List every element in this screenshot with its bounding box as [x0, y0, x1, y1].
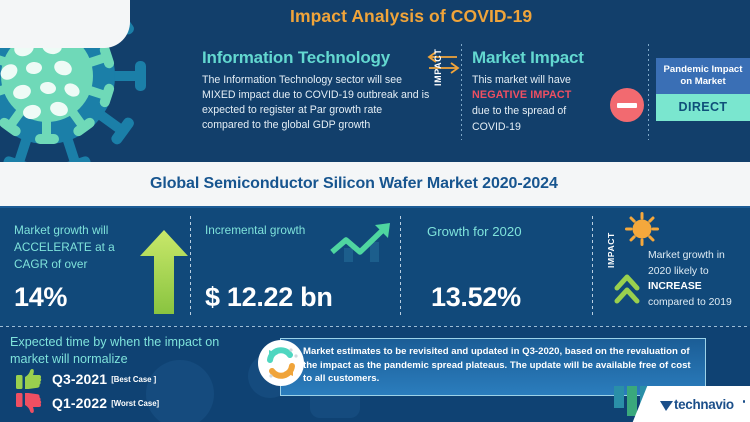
- stat-value-growth2020: 13.52%: [431, 282, 521, 313]
- normalize-title: Expected time by when the impact on mark…: [10, 334, 260, 367]
- trend-line-icon: [330, 222, 396, 266]
- page-title: Impact Analysis of COVID-19: [290, 6, 710, 27]
- stat-impact-text: Market growth in 2020 likely to INCREASE…: [648, 248, 748, 310]
- it-body: The Information Technology sector will s…: [202, 73, 430, 133]
- logo-registered-dot: [743, 400, 746, 403]
- up-arrow-icon: [140, 230, 188, 314]
- stat-card-growth2020: Growth for 2020 13.52%: [401, 208, 592, 326]
- report-title: Global Semiconductor Silicon Wafer Marke…: [150, 175, 558, 193]
- double-chevron-up-icon: [614, 272, 640, 306]
- logo-text: technavio: [674, 397, 734, 412]
- impact-vertical-label: IMPACT: [433, 49, 443, 86]
- case-row-worst: Q1-2022 [Worst Case]: [16, 392, 159, 414]
- it-heading: Information Technology: [202, 48, 430, 68]
- case-best-quarter: Q3-2021: [52, 371, 107, 387]
- refresh-icon: [258, 340, 304, 386]
- stat-label-growth2020: Growth for 2020: [427, 222, 592, 241]
- corner-notch: [0, 0, 130, 48]
- impact-vertical-label-2: IMPACT: [606, 232, 616, 268]
- stat4-line1: Market growth in: [648, 248, 748, 264]
- pandemic-label-line2: on Market: [660, 76, 746, 88]
- information-technology-block: Information Technology The Information T…: [202, 48, 430, 133]
- stat4-line3: compared to 2019: [648, 295, 748, 311]
- top-panel: Impact Analysis of COVID-19 Information …: [0, 0, 750, 162]
- case-row-best: Q3-2021 [Best Case ]: [16, 368, 156, 390]
- technavio-logo: technavio: [614, 386, 750, 422]
- pandemic-label-line1: Pandemic Impact: [660, 64, 746, 76]
- market-impact-highlight: NEGATIVE IMPACT: [472, 88, 612, 104]
- stat-value-cagr: 14%: [14, 282, 67, 313]
- market-impact-line2: due to the spread of: [472, 104, 612, 119]
- case-worst-tag: [Worst Case]: [111, 399, 159, 408]
- infographic-root: Impact Analysis of COVID-19 Information …: [0, 0, 750, 422]
- market-impact-heading: Market Impact: [472, 48, 612, 68]
- stat-label-cagr: Market growth will ACCELERATE at a CAGR …: [14, 222, 134, 273]
- stat4-line2: 2020 likely to: [648, 264, 748, 280]
- stat-value-incremental: $ 12.22 bn: [205, 282, 333, 313]
- stat-label-incremental: Incremental growth: [205, 222, 310, 239]
- update-callout-text: Market estimates to be revisited and upd…: [303, 345, 697, 386]
- market-impact-line3: COVID-19: [472, 120, 612, 135]
- stat-card-cagr: Market growth will ACCELERATE at a CAGR …: [0, 208, 190, 326]
- report-title-band: Global Semiconductor Silicon Wafer Marke…: [0, 162, 750, 208]
- case-worst-quarter: Q1-2022: [52, 395, 107, 411]
- pandemic-impact-label: Pandemic Impact on Market: [656, 58, 750, 94]
- market-impact-line1: This market will have: [472, 73, 612, 88]
- case-best-tag: [Best Case ]: [111, 375, 156, 384]
- divider-dotted-right: [648, 44, 649, 140]
- market-impact-block: Market Impact This market will have NEGA…: [472, 48, 612, 135]
- stat4-highlight: INCREASE: [648, 279, 748, 295]
- thumbs-down-icon: [16, 392, 42, 414]
- sun-icon: [625, 212, 659, 246]
- impact-divider: IMPACT: [427, 50, 461, 150]
- divider-dotted-left: [461, 44, 462, 140]
- pandemic-impact-value: DIRECT: [656, 94, 750, 121]
- play-triangle-icon: [660, 399, 673, 417]
- bottom-dotted-rule: [0, 326, 750, 327]
- thumbs-up-icon: [16, 368, 42, 390]
- pandemic-impact-box: Pandemic Impact on Market DIRECT: [656, 58, 750, 121]
- minus-circle-icon: [610, 88, 644, 122]
